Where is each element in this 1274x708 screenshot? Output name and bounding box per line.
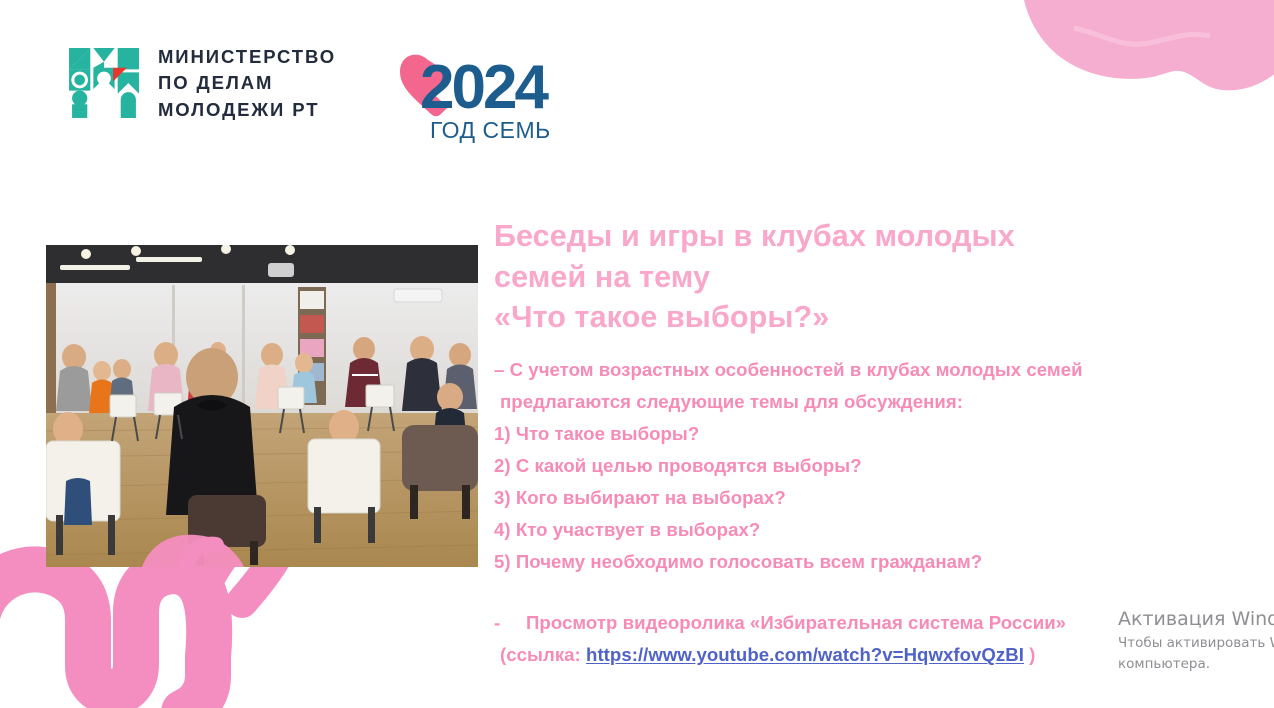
brush-stroke-top-right [1014,0,1274,112]
year-of-family-logo: 2024 ГОД СЕМЬИ [398,46,550,144]
video-link-intro-line: -Просмотр видеоролика «Избирательная сис… [494,607,1194,639]
video-link-block: -Просмотр видеоролика «Избирательная сис… [494,607,1194,671]
link-suffix: ) [1024,644,1035,665]
content-column: Беседы и игры в клубах молодых семей на … [494,216,1194,671]
question-item-2: 2) С какой целью проводятся выборы? [494,450,1194,482]
link-dash: - [494,607,526,639]
slide-canvas: МИНИСТЕРСТВО ПО ДЕЛАМ МОЛОДЕЖИ РТ 2024 Г… [0,0,1274,708]
logo-row: МИНИСТЕРСТВО ПО ДЕЛАМ МОЛОДЕЖИ РТ 2024 Г… [66,44,550,144]
question-item-3: 3) Кого выбирают на выборах? [494,482,1194,514]
event-photo [46,245,478,567]
question-item-4: 4) Кто участвует в выборах? [494,514,1194,546]
ministry-wordmark: МИНИСТЕРСТВО ПО ДЕЛАМ МОЛОДЕЖИ РТ [158,44,336,123]
body-text-block: – С учетом возрастных особенностей в клу… [494,354,1194,578]
intro-line-1: – С учетом возрастных особенностей в клу… [494,354,1194,386]
year-caption: ГОД СЕМЬИ [430,117,550,143]
event-photo-illustration [46,245,478,567]
question-item-1: 1) Что такое выборы? [494,418,1194,450]
ministry-line-1: МИНИСТЕРСТВО [158,44,336,70]
ministry-m-mark-icon [66,45,142,121]
link-prefix: (ссылка: [500,644,586,665]
year-number: 2024 [420,53,549,122]
question-item-5: 5) Почему необходимо голосовать всем гра… [494,546,1194,578]
youtube-link[interactable]: https://www.youtube.com/watch?v=HqwxfovQ… [586,644,1024,665]
slide-title: Беседы и игры в клубах молодых семей на … [494,216,1194,338]
video-link-intro: Просмотр видеоролика «Избирательная сист… [526,612,1066,633]
ministry-logo: МИНИСТЕРСТВО ПО ДЕЛАМ МОЛОДЕЖИ РТ [66,44,336,123]
video-link-url-line: (ссылка: https://www.youtube.com/watch?v… [494,639,1194,671]
intro-line-2: предлагаются следующие темы для обсужден… [494,386,1194,418]
ministry-line-2: ПО ДЕЛАМ [158,70,336,96]
ministry-line-3: МОЛОДЕЖИ РТ [158,97,336,123]
